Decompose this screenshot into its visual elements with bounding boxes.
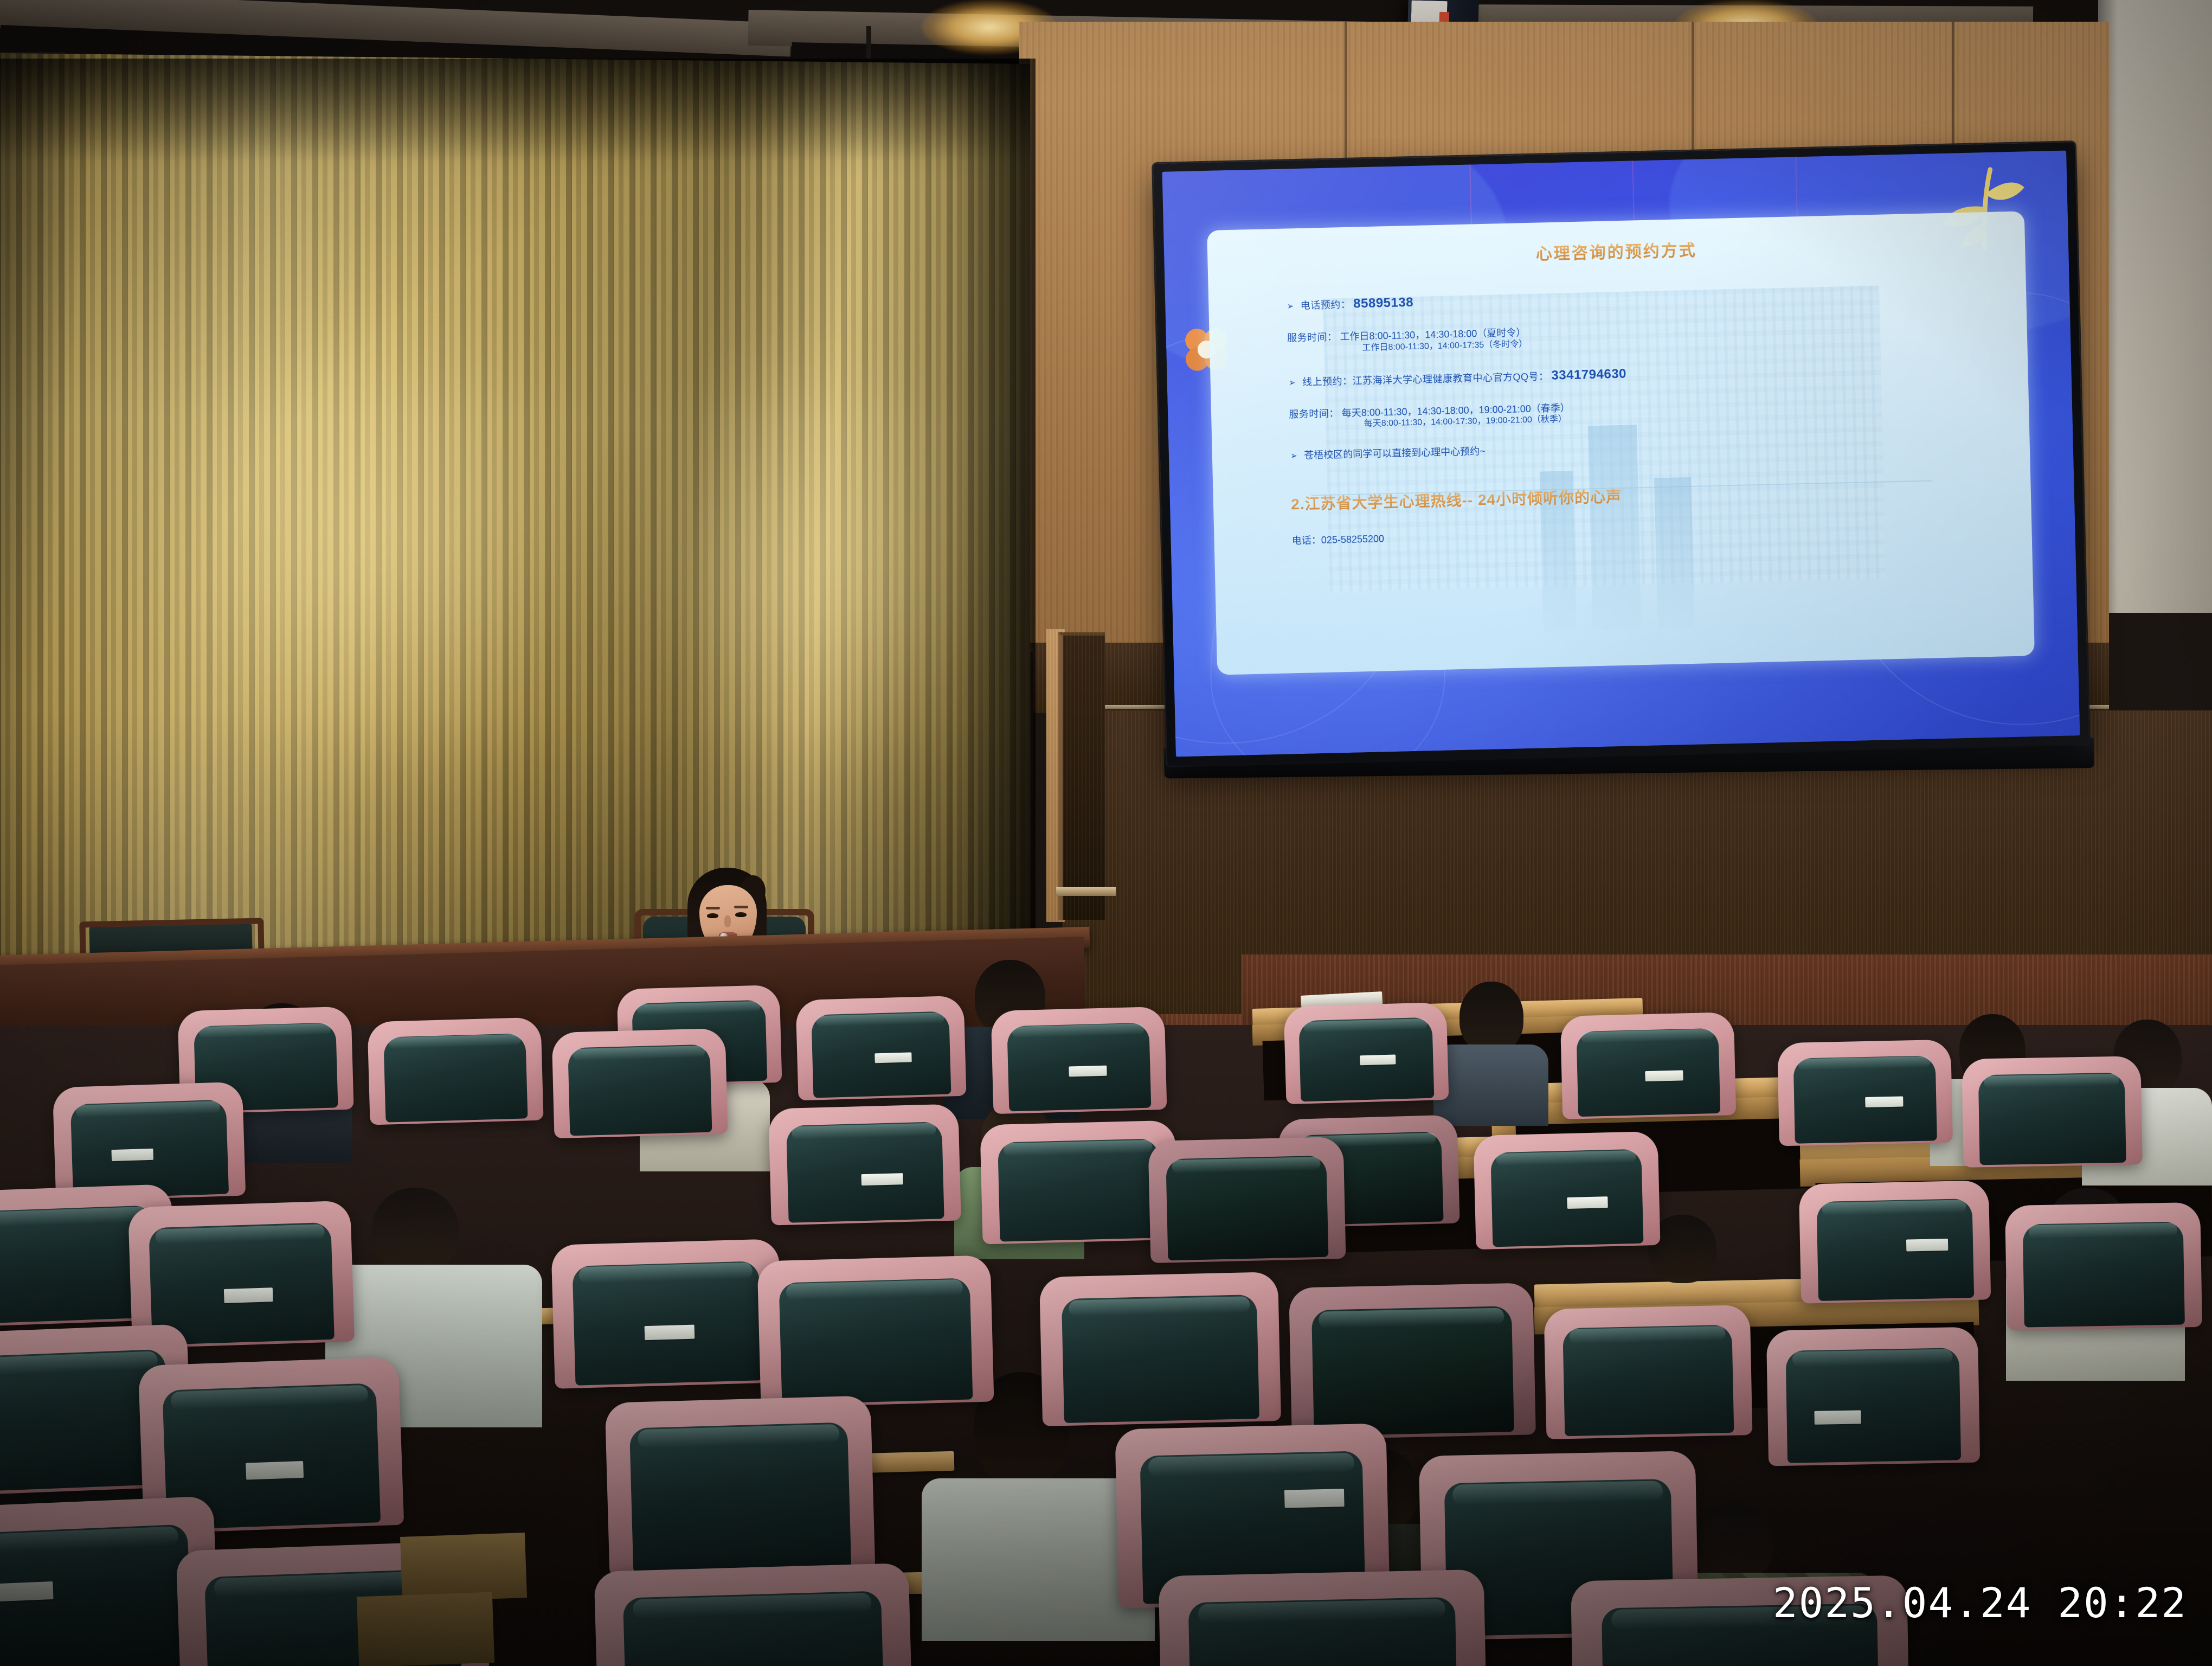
- slide-title: 心理咨询的预约方式: [1207, 229, 2025, 272]
- audience-person: [1431, 982, 1551, 1112]
- seat[interactable]: [367, 1017, 543, 1125]
- seat[interactable]: [1799, 1180, 1991, 1303]
- online-booking-label: 线上预约：江苏海洋大学心理健康教育中心官方QQ号：: [1302, 371, 1549, 388]
- seat[interactable]: [1039, 1272, 1281, 1426]
- seat[interactable]: [991, 1007, 1167, 1114]
- seat-number-label: [1567, 1196, 1607, 1209]
- screen-display: 心理咨询的预约方式 ➢ 电话预约： 85895138 服务时间： 工作日8:00…: [1162, 151, 2080, 757]
- seat[interactable]: [1289, 1283, 1536, 1439]
- seat[interactable]: [1159, 1569, 1488, 1666]
- seat[interactable]: [53, 1082, 246, 1202]
- phone-booking-number: 85895138: [1353, 295, 1413, 311]
- slide-body: ➢ 电话预约： 85895138 服务时间： 工作日8:00-11:30，14:…: [1286, 281, 1983, 547]
- bullet-icon: ➢: [1287, 300, 1294, 312]
- aisle-step: [400, 1533, 527, 1602]
- seat[interactable]: [1544, 1305, 1753, 1439]
- online-booking-qq: 3341794630: [1551, 366, 1626, 382]
- seat[interactable]: [551, 1239, 782, 1389]
- seat-number-label: [1814, 1410, 1861, 1424]
- seat-number-label: [1069, 1066, 1107, 1077]
- seat[interactable]: [594, 1563, 914, 1666]
- presentation-screen[interactable]: 心理咨询的预约方式 ➢ 电话预约： 85895138 服务时间： 工作日8:00…: [1153, 142, 2089, 766]
- seat-number-label: [861, 1173, 903, 1186]
- seat-number-label: [1360, 1054, 1396, 1065]
- seat[interactable]: [1148, 1137, 1346, 1263]
- bullet-icon: ➢: [1289, 376, 1296, 389]
- slide-card: 心理咨询的预约方式 ➢ 电话预约： 85895138 服务时间： 工作日8:00…: [1207, 211, 2035, 675]
- seat[interactable]: [1766, 1327, 1980, 1466]
- seat[interactable]: [1473, 1131, 1660, 1249]
- online-hours-label: 服务时间：: [1289, 408, 1339, 420]
- curtain-top-shadow: [0, 59, 1030, 162]
- seat-number-label: [224, 1287, 273, 1303]
- seat[interactable]: [2005, 1202, 2202, 1330]
- doorway-right[interactable]: [1058, 632, 1105, 920]
- seat-number-label: [1284, 1489, 1345, 1508]
- seat[interactable]: [1284, 1002, 1449, 1104]
- seat-number-label: [111, 1148, 153, 1161]
- seat[interactable]: [1560, 1012, 1737, 1119]
- seat[interactable]: [757, 1255, 994, 1407]
- seat-number-label: [1645, 1070, 1683, 1081]
- photo-timestamp: 2025.04.24 20:22: [1773, 1579, 2187, 1627]
- seat-number-label: [1865, 1096, 1904, 1107]
- seat[interactable]: [795, 996, 966, 1101]
- bullet-icon: ➢: [1290, 450, 1297, 462]
- seat-number-label: [1906, 1239, 1948, 1252]
- curtain-edge-shadow: [954, 59, 1036, 981]
- photo-scene: 心理咨询的预约方式 ➢ 电话预约： 85895138 服务时间： 工作日8:00…: [0, 0, 2212, 1666]
- seat[interactable]: [552, 1028, 728, 1138]
- seat[interactable]: [1777, 1040, 1953, 1146]
- seat[interactable]: [980, 1120, 1178, 1245]
- seat[interactable]: [1962, 1056, 2142, 1168]
- phone-hours-label: 服务时间：: [1287, 331, 1338, 343]
- walkin-note: 苍梧校区的同学可以直接到心理中心预约~: [1304, 446, 1486, 461]
- seat[interactable]: [605, 1395, 876, 1577]
- doorway-sill: [1056, 887, 1116, 896]
- seat[interactable]: [768, 1104, 961, 1225]
- audience-area: [0, 1025, 2212, 1666]
- seat-number-label: [0, 1581, 53, 1602]
- phone-booking-label: 电话预约：: [1301, 299, 1351, 311]
- seat-number-label: [246, 1461, 304, 1480]
- aisle-step: [357, 1592, 494, 1666]
- seat-number-label: [874, 1052, 912, 1063]
- seat-number-label: [645, 1324, 695, 1340]
- slide-section2-heading: 2.江苏省大学生心理热线-- 24小时倾听你的心声: [1291, 476, 1982, 514]
